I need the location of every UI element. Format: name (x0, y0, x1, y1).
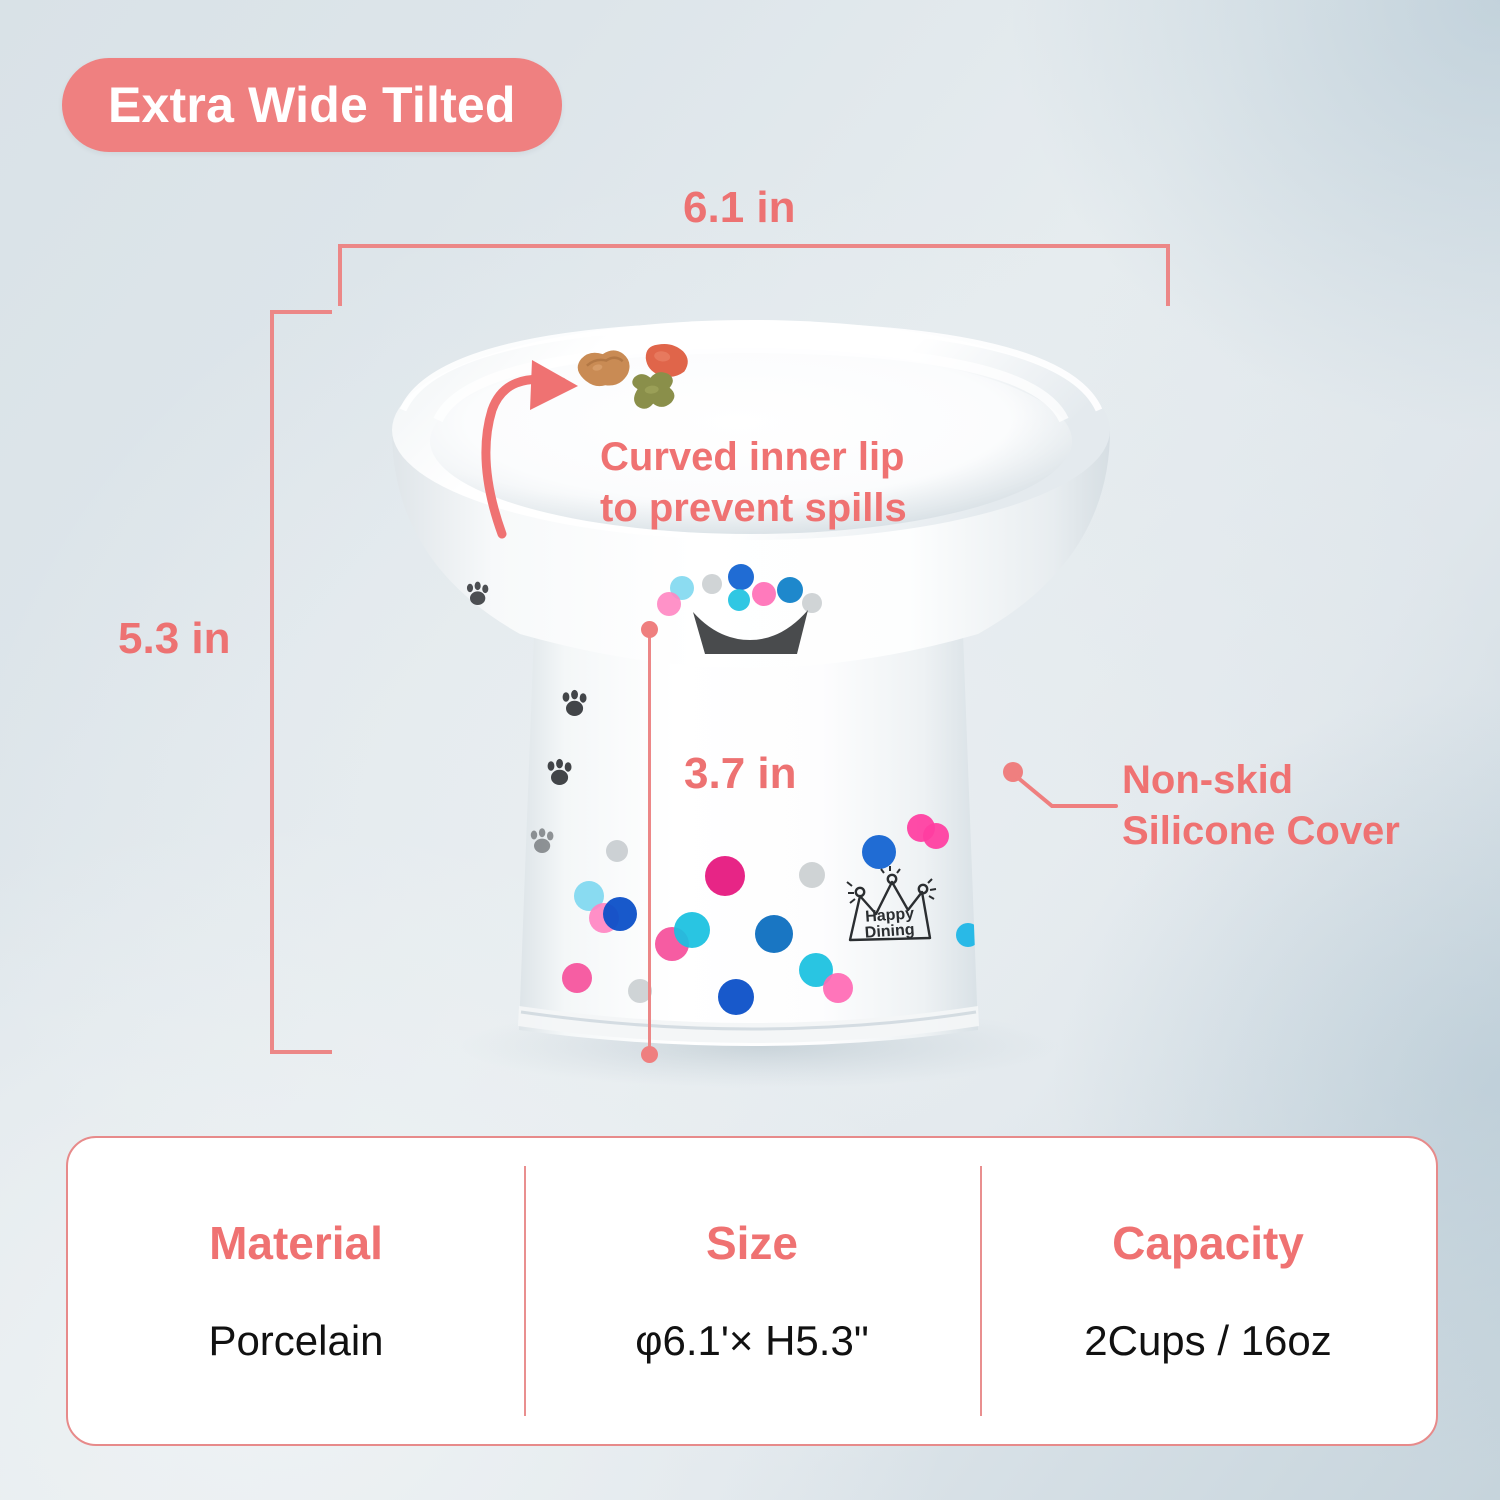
callout-non-skid: Non-skid Silicone Cover (1122, 755, 1400, 857)
callout-curved-lip-line1: Curved inner lip (600, 432, 907, 483)
product-image: Happy Dining (0, 0, 1500, 1150)
spec-value-size: φ6.1'× H5.3" (635, 1320, 868, 1362)
height-dimension-tick-bottom (270, 1050, 332, 1054)
base-height-dot-top (641, 621, 658, 638)
width-dimension-tick-right (1166, 244, 1170, 306)
callout-non-skid-line2: Silicone Cover (1122, 806, 1400, 857)
base-height-dimension-label: 3.7 in (684, 752, 797, 796)
spec-column-material: Material Porcelain (68, 1138, 524, 1444)
leader-line-nonskid (1000, 760, 1140, 820)
logo-text-line2: Dining (864, 921, 915, 941)
base-height-dimension-line (648, 628, 651, 1058)
callout-curved-lip-line2: to prevent spills (600, 483, 907, 534)
spec-header-material: Material (209, 1220, 383, 1266)
width-dimension-line (338, 244, 1170, 248)
feature-badge-label: Extra Wide Tilted (108, 80, 516, 130)
spec-table: Material Porcelain Size φ6.1'× H5.3" Cap… (66, 1136, 1438, 1446)
spec-header-capacity: Capacity (1112, 1220, 1304, 1266)
curved-arrow-icon (470, 352, 610, 542)
callout-curved-lip: Curved inner lip to prevent spills (600, 432, 907, 534)
width-dimension-tick-left (338, 244, 342, 306)
spec-column-size: Size φ6.1'× H5.3" (524, 1138, 980, 1444)
feature-badge: Extra Wide Tilted (62, 58, 562, 152)
spec-value-capacity: 2Cups / 16oz (1084, 1320, 1332, 1362)
spec-value-material: Porcelain (208, 1320, 383, 1362)
height-dimension-tick-top (270, 310, 332, 314)
infographic-canvas: Happy Dining (0, 0, 1500, 1500)
width-dimension-label: 6.1 in (683, 186, 796, 230)
height-dimension-line (270, 310, 274, 1054)
height-dimension-label: 5.3 in (118, 617, 231, 661)
callout-non-skid-line1: Non-skid (1122, 755, 1400, 806)
spec-column-capacity: Capacity 2Cups / 16oz (980, 1138, 1436, 1444)
base-height-dot-bottom (641, 1046, 658, 1063)
spec-header-size: Size (706, 1220, 798, 1266)
